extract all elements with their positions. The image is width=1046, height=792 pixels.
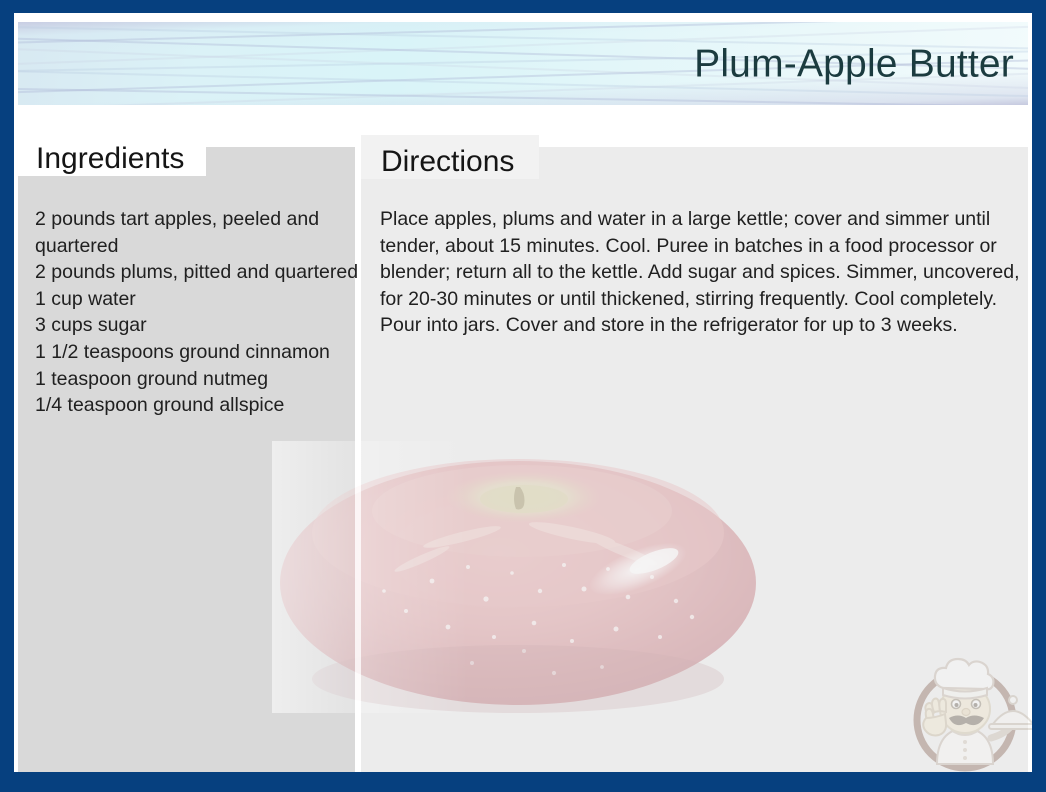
list-item: 2 pounds tart apples, peeled and quarter… (35, 206, 369, 259)
page-title: Plum-Apple Butter (694, 44, 1014, 83)
directions-heading: Directions (381, 147, 514, 177)
list-item: 2 pounds plums, pitted and quartered (35, 259, 369, 286)
list-item: 1 teaspoon ground nutmeg (35, 366, 369, 393)
list-item: 1 1/2 teaspoons ground cinnamon (35, 339, 369, 366)
list-item: 1/4 teaspoon ground allspice (35, 392, 369, 419)
list-item: 1 cup water (35, 286, 369, 313)
recipe-slide: Plum-Apple Butter (0, 0, 1046, 792)
ingredients-list: 2 pounds tart apples, peeled and quarter… (35, 206, 369, 419)
directions-text: Place apples, plums and water in a large… (380, 206, 1021, 339)
list-item: 3 cups sugar (35, 312, 369, 339)
title-banner: Plum-Apple Butter (18, 22, 1028, 105)
slide-content-area: Plum-Apple Butter (14, 13, 1032, 772)
chef-mascot-logo-icon (899, 646, 1032, 772)
ingredients-heading: Ingredients (36, 144, 184, 174)
